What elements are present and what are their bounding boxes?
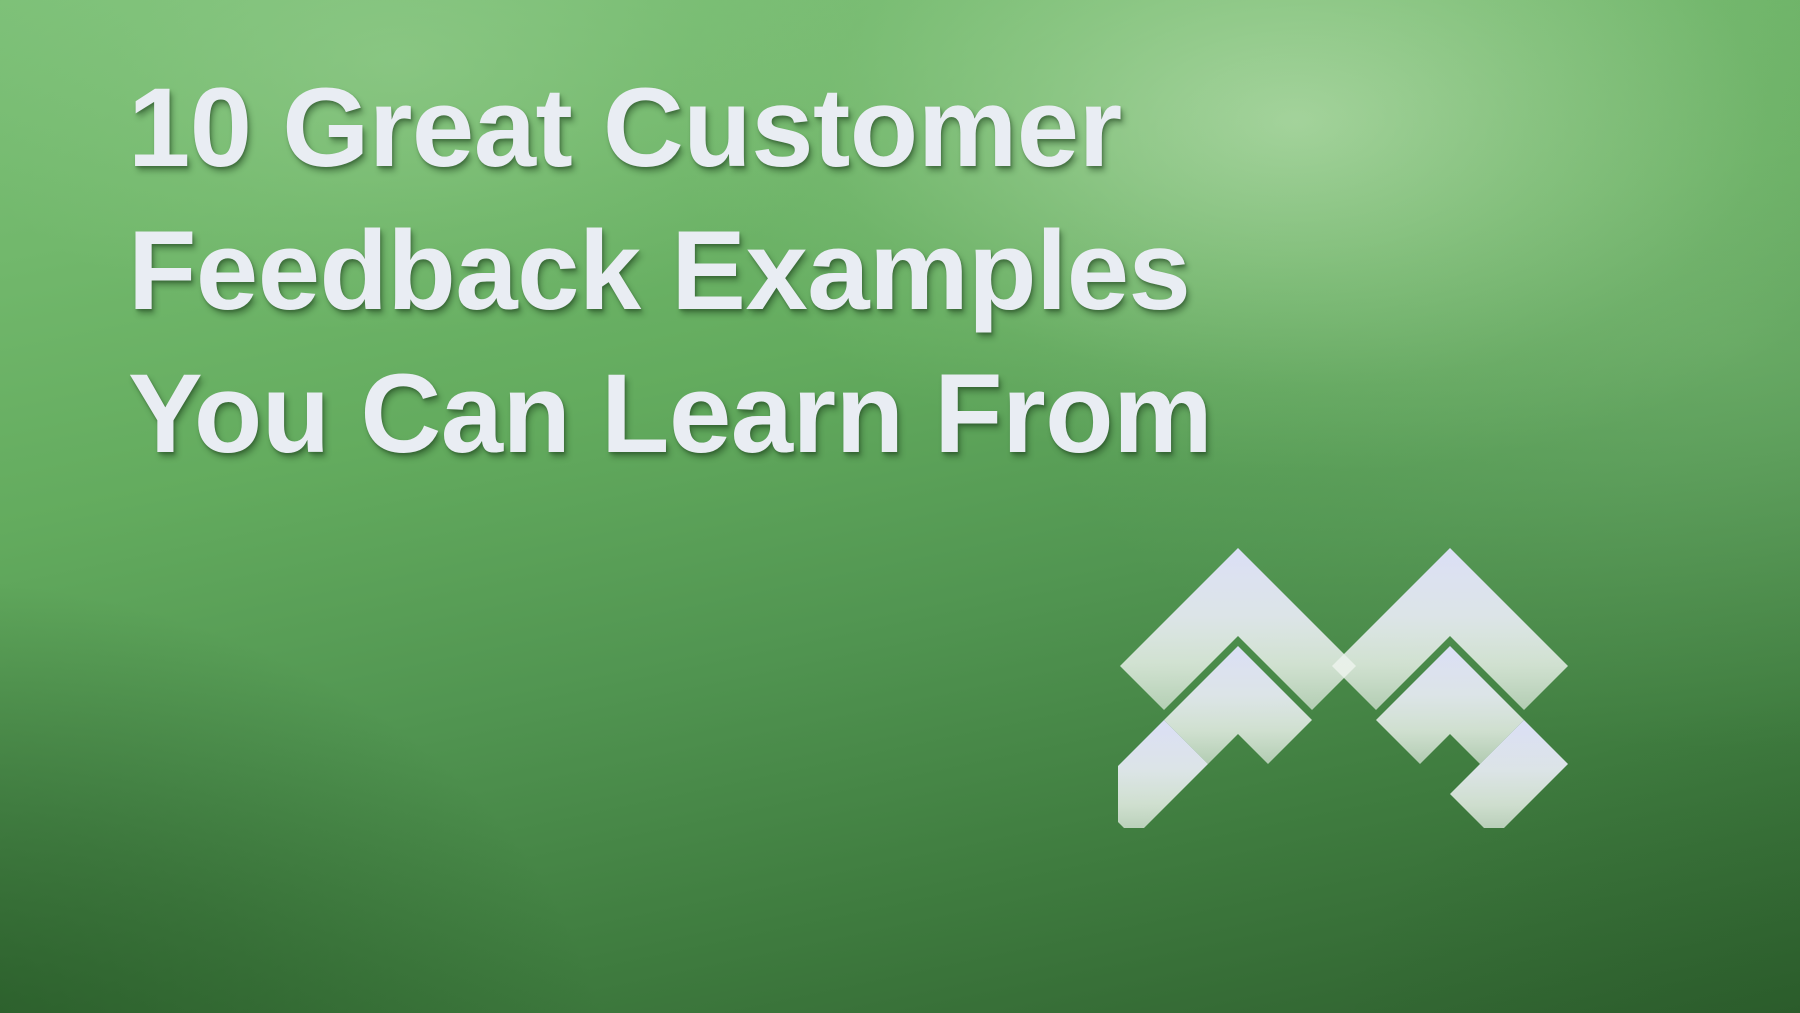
title-line-1: 10 Great Customer (128, 56, 1428, 199)
title-line-3: You Can Learn From (128, 342, 1428, 485)
banner-image: 10 Great Customer Feedback Examples You … (0, 0, 1800, 1013)
banner-title: 10 Great Customer Feedback Examples You … (128, 56, 1428, 485)
title-line-2: Feedback Examples (128, 199, 1428, 342)
